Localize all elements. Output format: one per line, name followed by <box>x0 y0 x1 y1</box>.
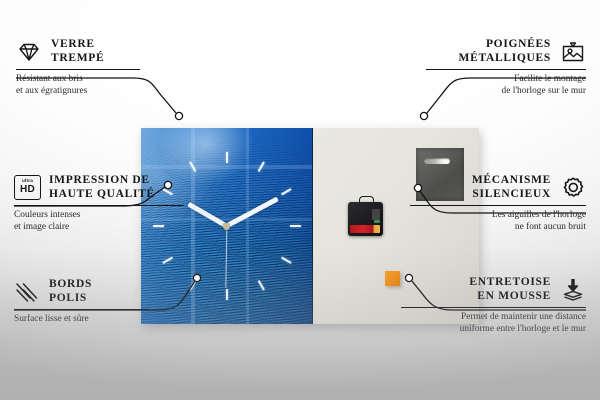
connector-dot-verre-trempe <box>175 112 182 119</box>
clock-center-cap <box>223 223 230 230</box>
feature-description: Surface lisse et sûre <box>14 314 149 325</box>
feature-entretoise-en-mousse[interactable]: ENTRETOISEEN MOUSSE Permet de maintenir … <box>401 276 586 335</box>
feature-description: Permet de maintenir une distanceuniforme… <box>401 312 586 335</box>
feature-title: POIGNÉESMÉTALLIQUES <box>459 38 551 65</box>
feature-impression-haute-qualite[interactable]: ultra HD IMPRESSION DEHAUTE QUALITÉ Coul… <box>14 174 184 233</box>
feature-mecanisme-silencieux[interactable]: MÉCANISMESILENCIEUX Les aiguilles de l'h… <box>410 174 586 233</box>
mechanism-hook <box>359 196 374 205</box>
feature-bords-polis[interactable]: BORDSPOLIS Surface lisse et sûre <box>14 278 149 326</box>
feature-title: ENTRETOISEEN MOUSSE <box>469 276 551 303</box>
feature-description: Les aiguilles de l'horlogene font aucun … <box>410 210 586 233</box>
feature-divider <box>14 309 149 310</box>
infographic-canvas: VERRETREMPÉ Résistant aux briset aux égr… <box>0 0 600 400</box>
feature-description: Facilite le montagede l'horloge sur le m… <box>426 74 586 97</box>
ultra-hd-badge-icon: ultra HD <box>14 175 40 201</box>
picture-frame-hanger-icon <box>560 39 586 65</box>
mechanism-indicator <box>374 220 380 223</box>
feature-divider <box>16 69 140 70</box>
badge-hd-label: HD <box>20 185 35 195</box>
feature-header: VERRETREMPÉ <box>16 38 140 65</box>
feature-header: MÉCANISMESILENCIEUX <box>410 174 586 201</box>
clock-mechanism <box>348 202 383 236</box>
gear-icon <box>560 175 586 201</box>
feature-header: POIGNÉESMÉTALLIQUES <box>426 38 586 65</box>
connector-dot-poignees <box>420 112 427 119</box>
feature-verre-trempe[interactable]: VERRETREMPÉ Résistant aux briset aux égr… <box>16 38 140 97</box>
feature-divider <box>14 205 184 206</box>
feature-title: MÉCANISMESILENCIEUX <box>472 174 551 201</box>
feature-title: IMPRESSION DEHAUTE QUALITÉ <box>49 174 155 201</box>
feature-header: BORDSPOLIS <box>14 278 149 305</box>
feature-title: VERRETREMPÉ <box>51 38 104 65</box>
diamond-icon <box>16 39 42 65</box>
hanger-keyhole-slot <box>424 158 450 164</box>
feature-poignees-metalliques[interactable]: POIGNÉESMÉTALLIQUES Facilite le montaged… <box>426 38 586 97</box>
mechanism-detail <box>372 209 380 220</box>
feature-description: Résistant aux briset aux égratignures <box>16 74 140 97</box>
battery <box>350 225 380 233</box>
feature-header: ultra HD IMPRESSION DEHAUTE QUALITÉ <box>14 174 184 201</box>
clock-tick <box>226 152 228 226</box>
foam-spacer <box>385 271 400 286</box>
feature-divider <box>426 69 586 70</box>
diagonal-lines-icon <box>14 279 40 305</box>
feature-divider <box>410 205 586 206</box>
feature-divider <box>401 307 586 308</box>
arrow-down-layers-icon <box>560 277 586 303</box>
feature-header: ENTRETOISEEN MOUSSE <box>401 276 586 303</box>
feature-title: BORDSPOLIS <box>49 278 92 305</box>
feature-description: Couleurs intenseset image claire <box>14 210 184 233</box>
clock-tick <box>227 225 301 227</box>
